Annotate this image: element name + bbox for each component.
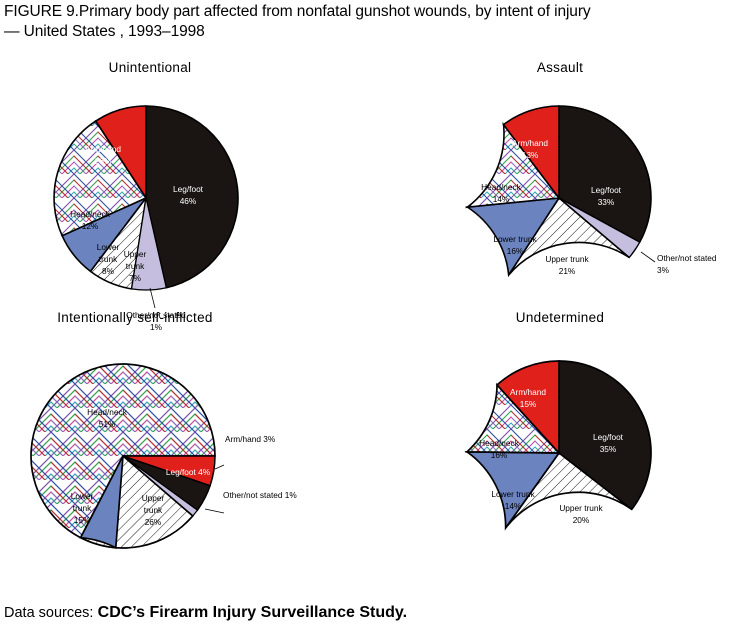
panel-title-assault: Assault bbox=[420, 60, 700, 75]
slice-label-upper-trunk-name: Upper trunk bbox=[559, 503, 603, 513]
slice-label-head-neck-value: 51% bbox=[99, 419, 116, 429]
slice-label-lower-trunk-value: 8% bbox=[102, 266, 115, 276]
slice-label-lower-trunk-value: 16% bbox=[507, 246, 524, 256]
leader-line-other-not-stated bbox=[641, 252, 655, 262]
pie-svg-assault: Leg/foot 33% Arm/hand 13% Head/neck 14% … bbox=[420, 78, 744, 318]
slice-label-leg-foot: Leg/foot 4% bbox=[166, 467, 211, 477]
slice-label-head-neck-value: 12% bbox=[82, 221, 99, 231]
slice-label-head-neck-name: Head/neck bbox=[479, 438, 520, 448]
slice-label-other-not-stated: Other/not stated 1% bbox=[223, 490, 297, 500]
leader-line-arm-hand bbox=[215, 465, 224, 469]
slice-label-upper-trunk-name2: trunk bbox=[144, 505, 163, 515]
slice-label-lower-trunk-name2: trunk bbox=[73, 503, 92, 513]
figure-title-line2: — United States , 1993–1998 bbox=[4, 22, 744, 42]
pie-chart-assault: Leg/foot 33% Arm/hand 13% Head/neck 14% … bbox=[420, 78, 744, 318]
pie-chart-unintentional: Leg/foot 46% Arm/hand 26% Head/neck 12% … bbox=[0, 78, 300, 318]
slice-label-leg-foot-name: Leg/foot bbox=[591, 185, 622, 195]
slice-label-arm-hand-value: 15% bbox=[520, 399, 537, 409]
pie-chart-undetermined: Leg/foot 35% Arm/hand 15% Head/neck 16% … bbox=[420, 328, 744, 568]
slice-label-leg-foot-value: 46% bbox=[180, 196, 197, 206]
slice-label-leg-foot-value: 35% bbox=[600, 444, 617, 454]
slice-label-arm-hand-value: 13% bbox=[522, 150, 539, 160]
slice-label-other-not-stated-name: Other/not stated bbox=[657, 253, 717, 263]
slice-label-arm-hand-value: 26% bbox=[95, 156, 112, 166]
slice-label-lower-trunk-name: Lower trunk bbox=[493, 234, 537, 244]
figure-title: FIGURE 9.Primary body part affected from… bbox=[4, 2, 744, 42]
pie-panel-unintentional: Unintentional bbox=[0, 60, 300, 310]
leader-line-other-not-stated bbox=[150, 288, 155, 308]
slice-label-head-neck-value: 14% bbox=[493, 194, 510, 204]
slice-label-lower-trunk-name1: Lower bbox=[71, 491, 94, 501]
slice-label-leg-foot-name: Leg/foot bbox=[593, 432, 624, 442]
slice-label-upper-trunk-name: Upper trunk bbox=[545, 254, 589, 264]
slice-label-upper-trunk-value: 21% bbox=[559, 266, 576, 276]
slice-label-upper-trunk-value: 7% bbox=[129, 273, 142, 283]
pie-svg-undetermined: Leg/foot 35% Arm/hand 15% Head/neck 16% … bbox=[420, 328, 744, 578]
slice-label-arm-hand-name: Arm/hand bbox=[512, 138, 548, 148]
slice-label-upper-trunk-value: 20% bbox=[573, 515, 590, 525]
pie-panel-assault: Assault bbox=[420, 60, 744, 310]
slice-label-head-neck-name: Head/neck bbox=[87, 407, 128, 417]
pie-svg-self-inflicted: Head/neck 51% Arm/hand 3% Leg/foot 4% Ot… bbox=[0, 328, 340, 578]
panel-title-undetermined: Undetermined bbox=[420, 310, 700, 325]
slice-label-lower-trunk-name: Lower trunk bbox=[491, 489, 535, 499]
slice-label-lower-trunk-name2: trunk bbox=[99, 254, 118, 264]
slice-label-upper-trunk-value: 26% bbox=[145, 517, 162, 527]
pie-panel-self-inflicted: Intentionally self-inflicted bbox=[0, 310, 340, 570]
slice-label-upper-trunk-name1: Upper bbox=[142, 493, 165, 503]
panel-title-unintentional: Unintentional bbox=[0, 60, 300, 75]
source-label: Data sources: bbox=[4, 605, 93, 621]
slice-label-upper-trunk-name1: Upper bbox=[124, 249, 147, 259]
source-value: CDC’s Firearm Injury Surveillance Study. bbox=[98, 604, 407, 621]
pie-panel-undetermined: Undetermined bbox=[420, 310, 744, 570]
panel-title-self-inflicted: Intentionally self-inflicted bbox=[0, 310, 270, 325]
slice-label-other-not-stated-value: 3% bbox=[657, 265, 670, 275]
leader-line-other-not-stated bbox=[205, 509, 224, 513]
slice-label-arm-hand-name: Arm/hand bbox=[85, 144, 121, 154]
slice-label-head-neck-name: Head/neck bbox=[70, 209, 111, 219]
pie-svg-unintentional: Leg/foot 46% Arm/hand 26% Head/neck 12% … bbox=[0, 78, 300, 318]
source-note: Data sources: CDC’s Firearm Injury Surve… bbox=[4, 604, 407, 622]
slice-label-upper-trunk-name2: trunk bbox=[126, 261, 145, 271]
slice-label-leg-foot-name: Leg/foot bbox=[173, 184, 204, 194]
slice-label-head-neck-name: Head/neck bbox=[481, 182, 522, 192]
slice-label-leg-foot-value: 33% bbox=[598, 197, 615, 207]
slice-label-lower-trunk-name1: Lower bbox=[97, 242, 120, 252]
slice-label-arm-hand-name: Arm/hand bbox=[510, 387, 546, 397]
slice-label-lower-trunk-value: 14% bbox=[505, 501, 522, 511]
slice-label-arm-hand: Arm/hand 3% bbox=[225, 434, 276, 444]
figure-title-line1: FIGURE 9.Primary body part affected from… bbox=[4, 2, 744, 22]
pie-chart-self-inflicted: Head/neck 51% Arm/hand 3% Leg/foot 4% Ot… bbox=[0, 328, 340, 568]
slice-label-lower-trunk-value: 15% bbox=[74, 515, 91, 525]
slice-label-head-neck-value: 16% bbox=[491, 450, 508, 460]
